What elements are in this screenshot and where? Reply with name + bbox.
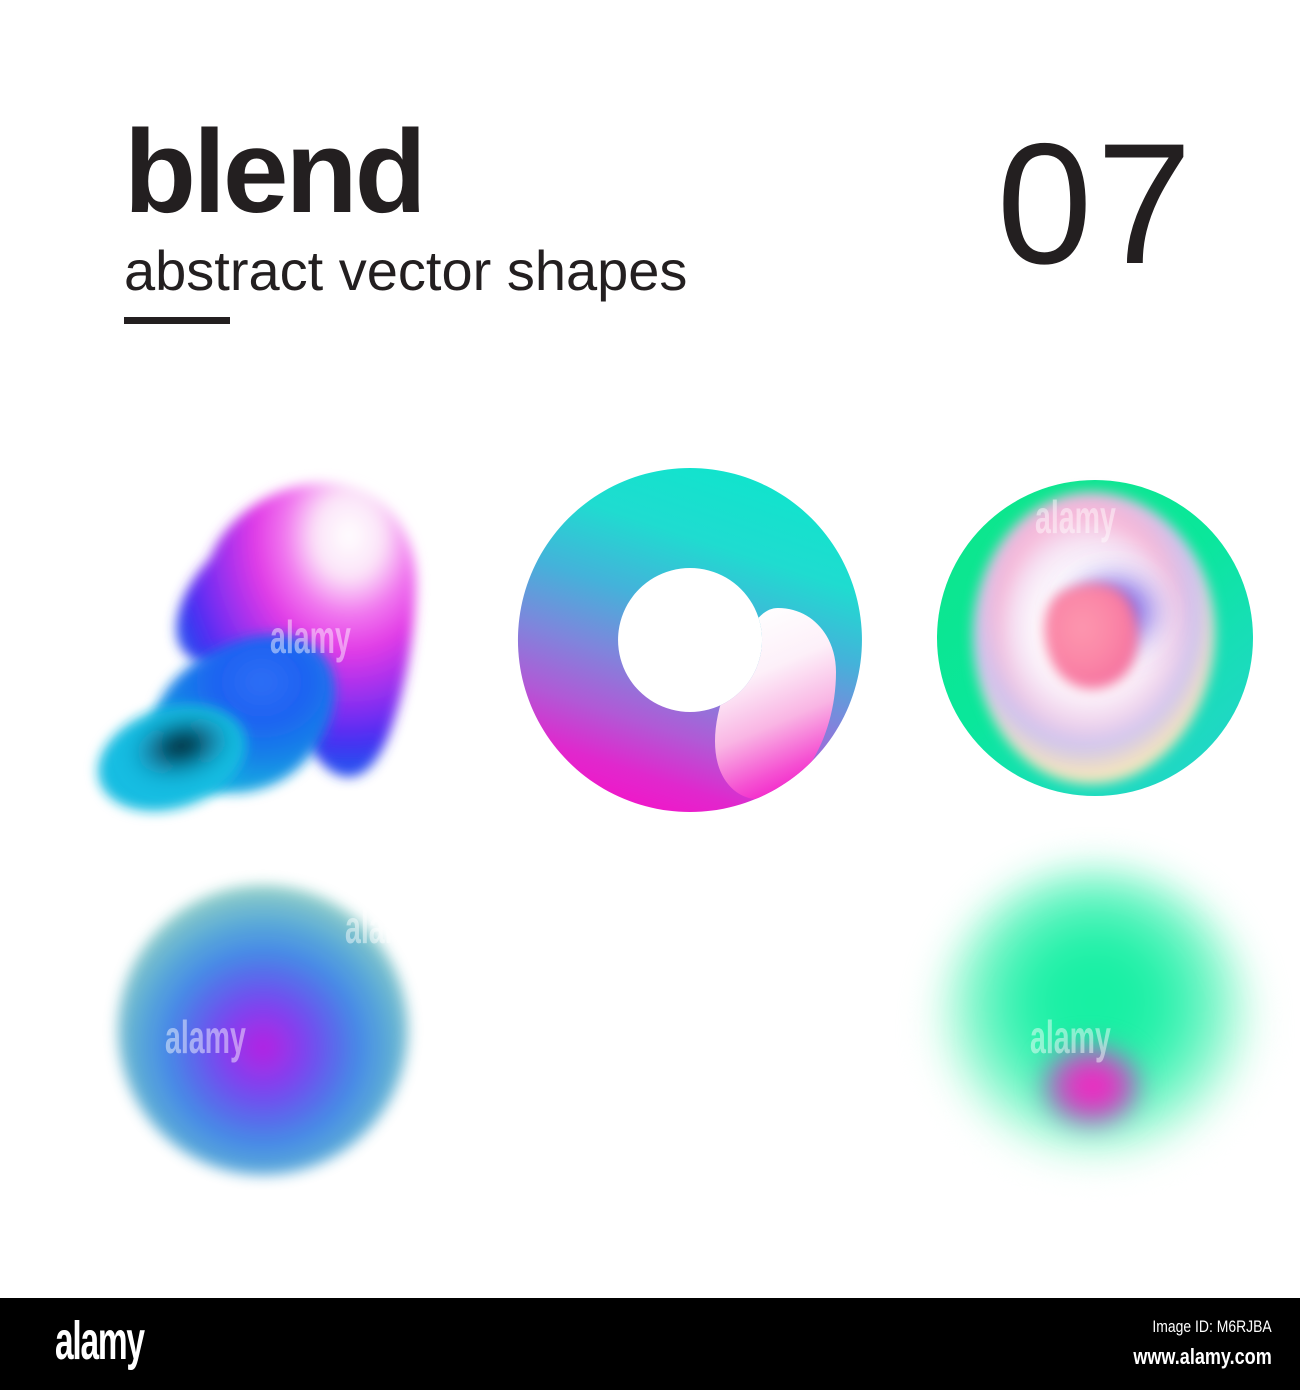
issue-number: 07 (997, 118, 1196, 290)
site-url-label[interactable]: www.alamy.com (1134, 1342, 1272, 1373)
shape-cell-organic-blob (60, 440, 460, 840)
stock-photo-canvas: blend abstract vector shapes 07 (0, 0, 1300, 1390)
shape-cell-donut-ring (490, 440, 890, 840)
header: blend abstract vector shapes 07 (0, 0, 1300, 340)
organic-blob-magenta-blue-icon (60, 440, 460, 840)
page-title: blend (124, 118, 884, 227)
radial-orb-magenta-pale-icon (542, 878, 842, 1178)
radial-orb-violet-mint-icon (118, 885, 408, 1175)
shape-cell-orb-magenta (490, 860, 890, 1260)
shape-cell-concentric-orb (895, 440, 1295, 840)
shape-grid (0, 420, 1300, 1280)
radial-orb-green-icon (935, 866, 1255, 1191)
alamy-logo[interactable]: alamy (55, 1314, 144, 1368)
footer-meta: Image ID: M6RJBA www.alamy.com (1103, 1316, 1272, 1373)
title-underline-bar (124, 317, 230, 324)
gradient-donut-ring-icon (490, 440, 890, 840)
concentric-blend-orb-icon (895, 440, 1295, 840)
image-id-label: Image ID: M6RJBA (1134, 1316, 1272, 1338)
shape-cell-orb-green (895, 860, 1295, 1260)
page-subtitle: abstract vector shapes (124, 243, 884, 299)
radial-orb-green-magenta-core-icon (1043, 1045, 1139, 1125)
footer-watermark-bar: alamy Image ID: M6RJBA www.alamy.com (0, 1298, 1300, 1390)
title-group: blend abstract vector shapes (124, 118, 884, 324)
shape-cell-orb-violet (60, 860, 460, 1260)
ring-pale-lobe (715, 608, 836, 799)
